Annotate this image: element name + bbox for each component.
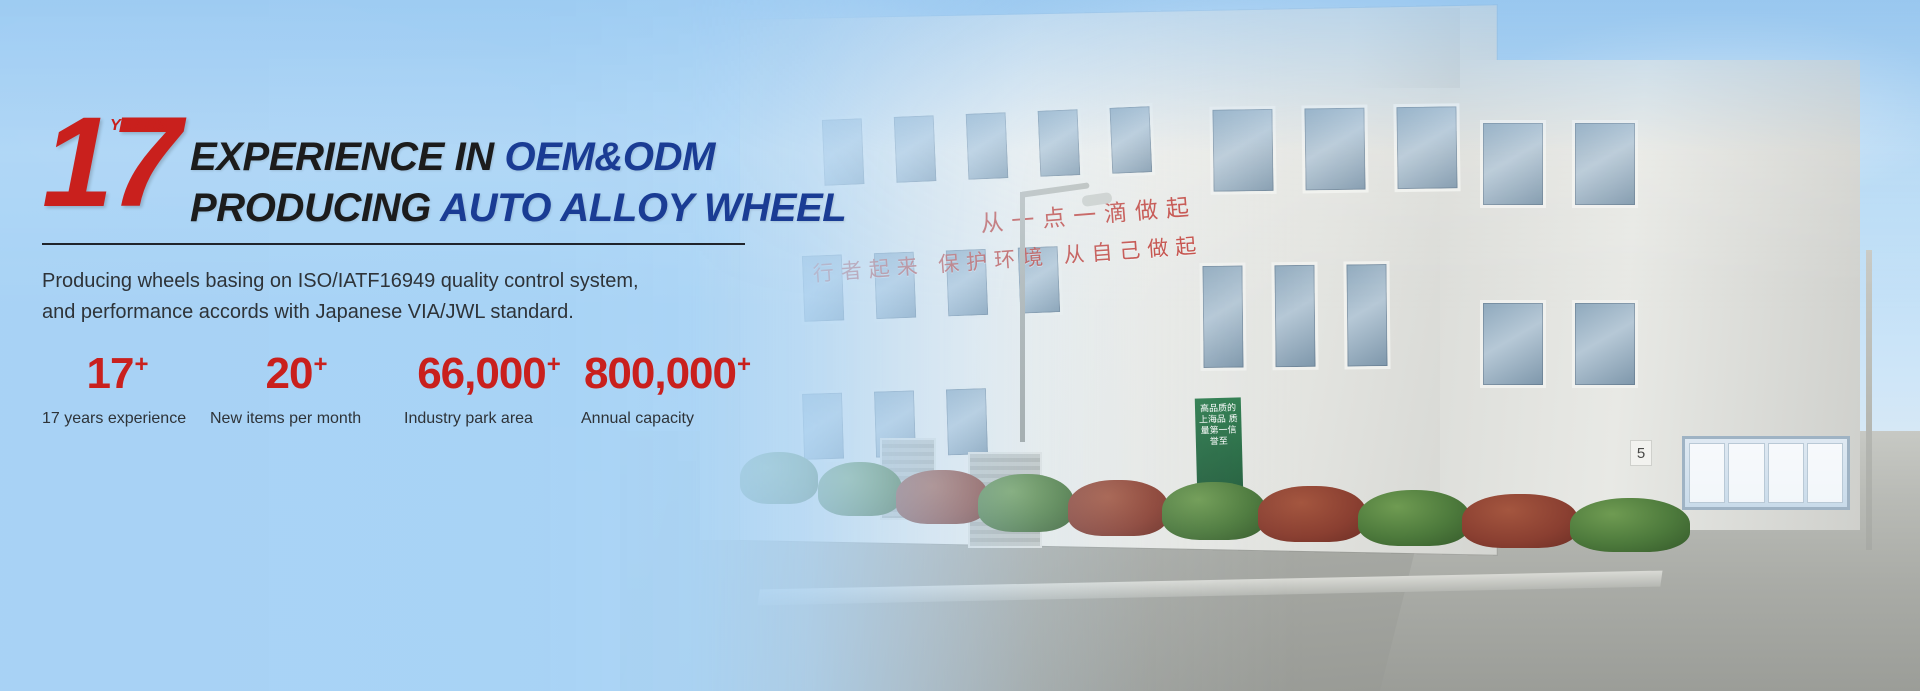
stat-suffix: + [313,351,326,378]
stat-label: New items per month [210,410,404,428]
stat-number: 800,000 [584,349,736,398]
stat-value: 17+ [42,352,210,396]
years-badge: 17 YEARS [42,108,178,218]
description-text: Producing wheels basing on ISO/IATF16949… [42,266,639,328]
stat-item: 20+ New items per month [210,352,404,428]
stat-suffix: + [134,351,147,378]
headline-line-2: PRODUCING AUTO ALLOY WHEEL [190,183,846,234]
promo-banner: 从一点一滴做起 行者起来 保护环境 从自己做起 高品质的上海品 质量第一信誉至 … [0,0,1920,691]
stat-label: 17 years experience [42,410,210,428]
headline-line1-plain: EXPERIENCE IN [190,135,504,179]
stat-number: 17 [87,349,134,398]
headline-line1-accent: OEM&ODM [504,135,715,179]
stats-row: 17+ 17 years experience 20+ New items pe… [42,352,771,428]
years-word-label: YEARS [110,117,168,135]
stat-suffix: + [737,351,750,378]
stat-item: 17+ 17 years experience [42,352,210,428]
stat-value: 800,000+ [581,352,771,396]
banner-content: 17 YEARS EXPERIENCE IN OEM&ODM PRODUCING… [0,0,820,691]
stat-suffix: + [547,351,560,378]
stat-number: 66,000 [417,349,546,398]
headline-line2-plain: PRODUCING [190,186,440,230]
headline-line2-accent: AUTO ALLOY WHEEL [440,186,846,230]
stat-item: 66,000+ Industry park area [404,352,581,428]
stat-number: 20 [266,349,313,398]
description-line-1: Producing wheels basing on ISO/IATF16949… [42,266,639,297]
stat-label: Annual capacity [581,410,771,428]
stat-label: Industry park area [404,410,581,428]
divider [42,243,745,245]
headline-line-1: EXPERIENCE IN OEM&ODM [190,132,846,183]
stat-value: 20+ [210,352,404,396]
page-title: EXPERIENCE IN OEM&ODM PRODUCING AUTO ALL… [190,132,846,234]
stat-item: 800,000+ Annual capacity [581,352,771,428]
stat-value: 66,000+ [404,352,581,396]
description-line-2: and performance accords with Japanese VI… [42,297,639,328]
